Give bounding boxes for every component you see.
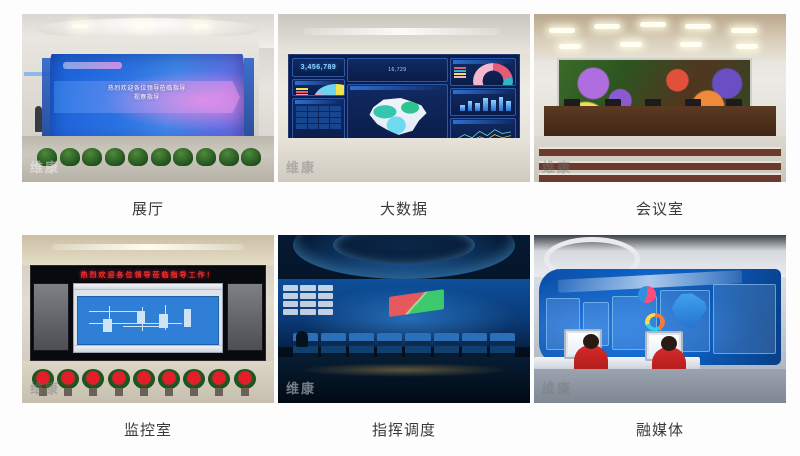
dashboard-column-right	[450, 58, 516, 146]
ceiling	[534, 14, 786, 60]
gallery-item-converged-media[interactable]: 维康 融媒体	[534, 235, 786, 456]
caption-converged-media: 融媒体	[534, 423, 786, 438]
screen-logo-tag	[63, 62, 121, 69]
floor	[278, 357, 530, 403]
scene-monitoring-room: 热烈欢迎各位领导莅临指导工作！	[22, 235, 274, 403]
chart-legend	[296, 88, 308, 96]
scene-exhibition-hall: 热烈欢迎各位领导莅临指导 视察指导 维康	[22, 14, 274, 182]
window-toolbar	[74, 284, 222, 290]
pie-chart-panel	[292, 79, 345, 96]
led-video-wall: 热烈欢迎各位领导莅临指导工作！	[30, 265, 267, 361]
photo-big-data[interactable]: 3,456,789	[278, 14, 530, 182]
ceiling	[278, 14, 530, 54]
caption-command-dispatch: 指挥调度	[278, 423, 530, 438]
ceiling-lamp-icon	[193, 24, 209, 28]
photo-converged-media[interactable]: 维康	[534, 235, 786, 403]
ceiling-lamp-icon	[72, 24, 88, 28]
floor	[278, 138, 530, 182]
operator-silhouette	[296, 331, 308, 347]
caption-exhibition-hall: 展厅	[22, 202, 274, 217]
kpi-panel: 3,456,789	[292, 58, 345, 77]
gallery-item-exhibition-hall[interactable]: 热烈欢迎各位领导莅临指导 视察指导 维康 展厅	[22, 14, 274, 235]
floor	[534, 369, 786, 403]
caption-big-data: 大数据	[278, 202, 530, 217]
photo-meeting-room[interactable]: 维康	[534, 14, 786, 182]
dashboard-column-left: 3,456,789	[292, 58, 345, 146]
scene-command-dispatch: 维康	[278, 235, 530, 403]
process-diagram	[77, 296, 219, 345]
bar-chart-panel	[450, 88, 516, 116]
gallery-item-meeting-room[interactable]: 维康 会议室	[534, 14, 786, 235]
led-video-wall: 热烈欢迎各位领导莅临指导 视察指导	[50, 54, 244, 144]
pie-chart	[314, 84, 344, 96]
photo-monitoring-room[interactable]: 热烈欢迎各位领导莅临指导工作！	[22, 235, 274, 403]
caption-monitoring-room: 监控室	[22, 423, 274, 438]
dashboard-subvalue: 16,729	[388, 67, 406, 73]
china-map	[366, 95, 429, 137]
image-gallery: 热烈欢迎各位领导莅临指导 视察指导 维康 展厅	[0, 0, 800, 455]
dashboard-column-center: 16,729	[347, 58, 448, 146]
dashboard-header-panel: 16,729	[347, 58, 448, 82]
caption-meeting-room: 会议室	[534, 202, 786, 217]
gallery-item-monitoring-room[interactable]: 热烈欢迎各位领导莅临指导工作！	[22, 235, 274, 456]
scene-meeting-room: 维康	[534, 14, 786, 182]
scrolling-banner: 热烈欢迎各位领导莅临指导工作！	[33, 268, 264, 281]
photo-exhibition-hall[interactable]: 热烈欢迎各位领导莅临指导 视察指导 维康	[22, 14, 274, 182]
scene-converged-media: 维康	[534, 235, 786, 403]
scene-big-data: 3,456,789	[278, 14, 530, 182]
window-statusbar	[74, 345, 222, 352]
channel-thumbnail-grid	[283, 285, 333, 322]
side-led-panel	[244, 58, 254, 142]
gallery-item-big-data[interactable]: 3,456,789	[278, 14, 530, 235]
donut-chart	[473, 63, 513, 86]
kpi-value: 3,456,789	[301, 64, 337, 71]
gallery-item-command-dispatch[interactable]: 维康 指挥调度	[278, 235, 530, 456]
seating-rows	[534, 136, 786, 182]
screen-logo-icon	[389, 289, 444, 317]
visitor-silhouette	[35, 106, 42, 132]
ceiling-ring	[293, 235, 515, 279]
china-map-panel	[347, 84, 448, 146]
led-video-wall: 3,456,789	[288, 54, 520, 150]
donut-chart-panel	[450, 58, 516, 86]
podium-desk	[544, 106, 776, 136]
chart-legend	[454, 67, 466, 78]
ceiling-lamp-icon	[133, 24, 149, 28]
photo-command-dispatch[interactable]: 维康	[278, 235, 530, 403]
ceiling	[22, 235, 274, 265]
bar-chart	[460, 95, 511, 111]
screen-welcome-text: 热烈欢迎各位领导莅临指导 视察指导	[50, 85, 244, 103]
scada-screen	[73, 283, 223, 353]
